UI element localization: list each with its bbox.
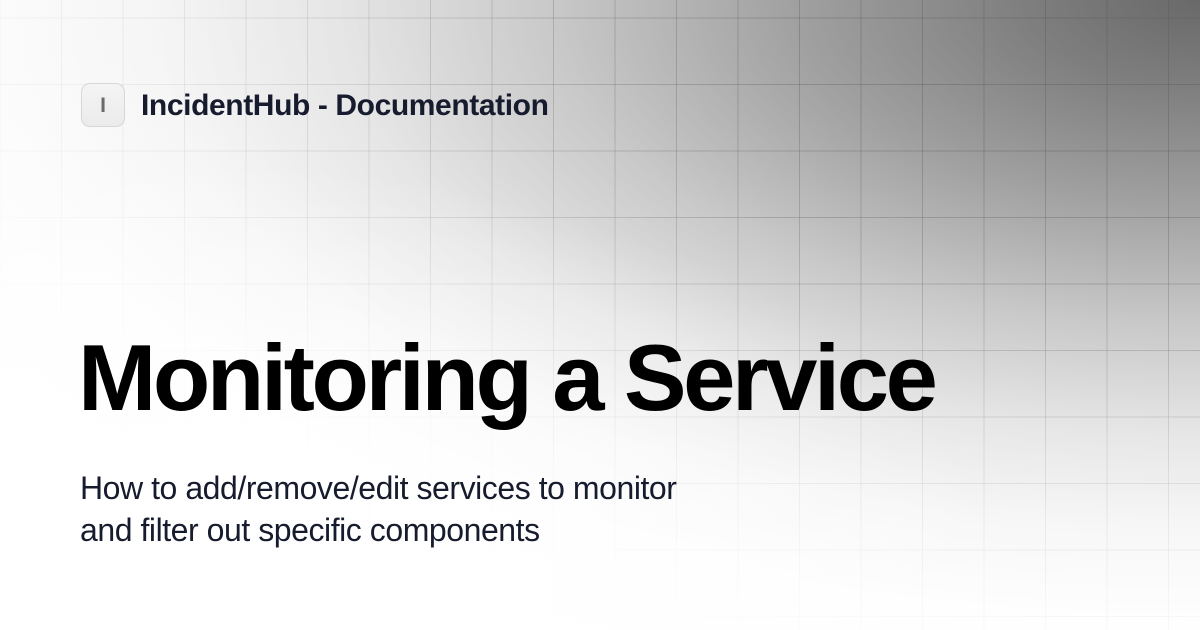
- og-card: I IncidentHub - Documentation Monitoring…: [0, 0, 1200, 630]
- page-subtitle-line-1: How to add/remove/edit services to monit…: [80, 468, 676, 510]
- page-title: Monitoring a Service: [78, 328, 935, 428]
- card-content: I IncidentHub - Documentation Monitoring…: [0, 0, 1200, 630]
- page-subtitle-line-2: and filter out specific components: [80, 510, 676, 552]
- brand-header[interactable]: I IncidentHub - Documentation: [81, 83, 549, 127]
- page-subtitle: How to add/remove/edit services to monit…: [80, 468, 676, 551]
- brand-title: IncidentHub - Documentation: [141, 89, 549, 122]
- letter-i-logo-icon: I: [81, 83, 125, 127]
